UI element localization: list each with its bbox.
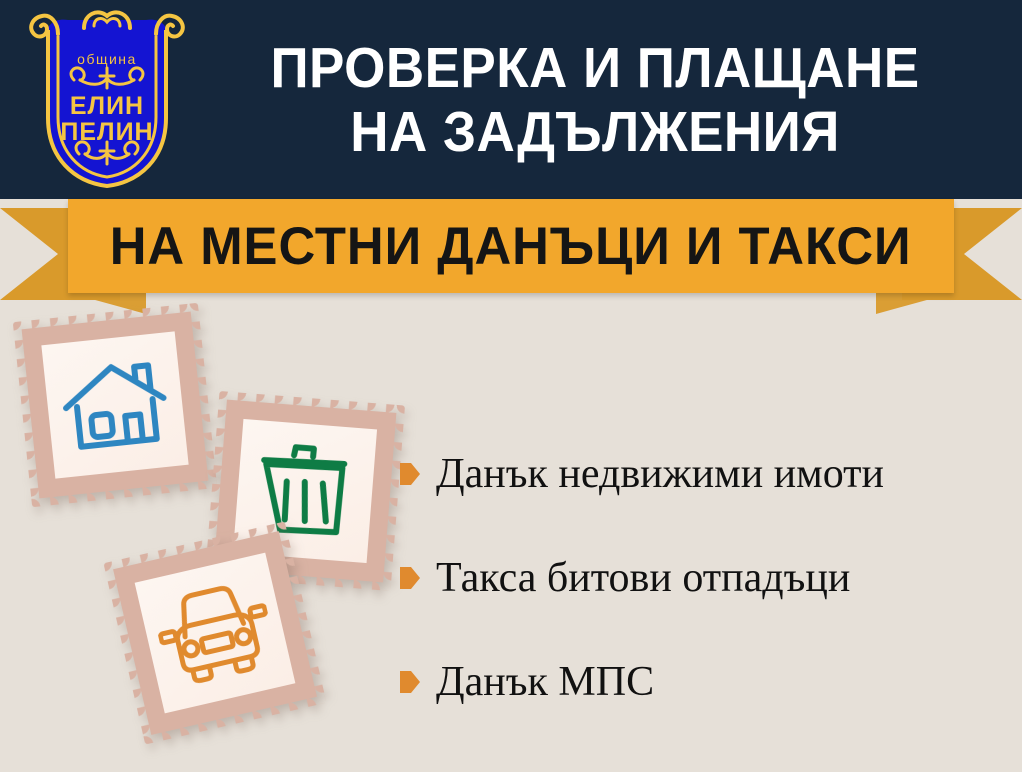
page-title: ПРОВЕРКА И ПЛАЩАНЕ НА ЗАДЪЛЖЕНИЯ — [209, 16, 981, 186]
list-item-label: Такса битови отпадъци — [436, 556, 850, 600]
ribbon-banner: НА МЕСТНИ ДАНЪЦИ И ТАКСИ — [68, 199, 954, 293]
list-item[interactable]: Данък недвижими имоти — [400, 422, 1000, 526]
house-icon — [55, 354, 174, 457]
crest-name-line1: ЕЛИН — [70, 92, 144, 120]
car-icon — [150, 575, 280, 692]
arrow-bullet-icon — [400, 463, 420, 485]
stamp-card-property-tax — [13, 303, 217, 507]
list-item[interactable]: Такса битови отпадъци — [400, 526, 1000, 630]
tax-type-list: Данък недвижими имоти Такса битови отпад… — [400, 422, 1000, 734]
ribbon-fold-right — [876, 292, 956, 314]
poster-canvas: община ЕЛИН ПЕЛИН ПРОВЕРКА И П — [0, 0, 1022, 772]
arrow-bullet-icon — [400, 671, 420, 693]
stamp-inner-area — [41, 331, 188, 478]
arrow-bullet-icon — [400, 567, 420, 589]
coat-of-arms-elin-pelin: община ЕЛИН ПЕЛИН — [22, 6, 192, 192]
subtitle-ribbon: НА МЕСТНИ ДАНЪЦИ И ТАКСИ — [0, 196, 1022, 308]
page-title-line-1: ПРОВЕРКА И ПЛАЩАНЕ — [270, 37, 919, 101]
page-title-line-2: НА ЗАДЪЛЖЕНИЯ — [350, 101, 840, 165]
list-item-label: Данък недвижими имоти — [436, 452, 884, 496]
list-item[interactable]: Данък МПС — [400, 630, 1000, 734]
crest-top-label: община — [77, 51, 137, 67]
ribbon-label: НА МЕСТНИ ДАНЪЦИ И ТАКСИ — [110, 220, 912, 273]
list-item-label: Данък МПС — [436, 660, 654, 704]
